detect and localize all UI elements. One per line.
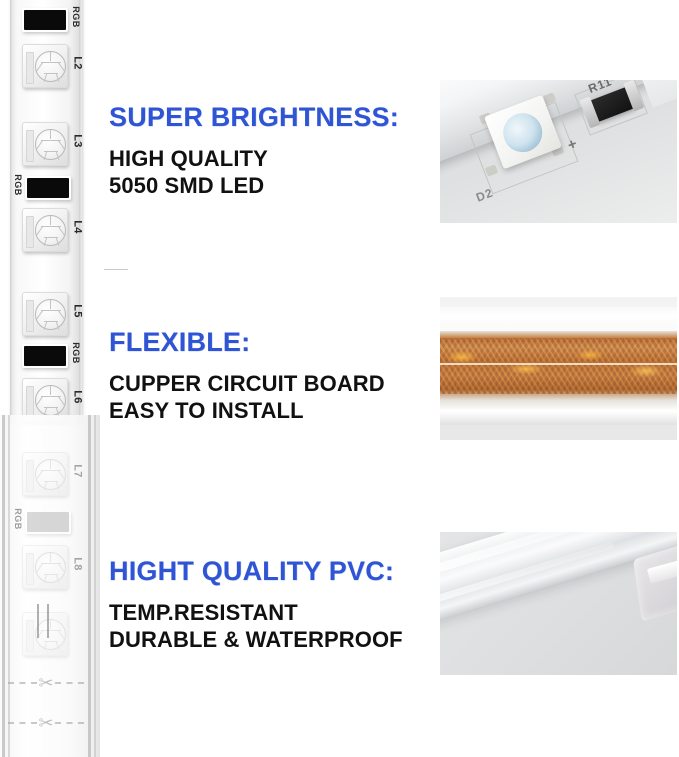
resistor-label: RGB [13, 508, 23, 530]
feature-hight-quality-pvc: HIGHT QUALITY PVC: TEMP.RESISTANT DURABL… [109, 557, 439, 654]
led-dome-icon [35, 459, 66, 490]
copper-center-line [440, 363, 677, 365]
cut-marker: ✂ [8, 672, 84, 694]
led-dome-icon [35, 619, 66, 650]
feature-flexible: FLEXIBLE: CUPPER CIRCUIT BOARD EASY TO I… [109, 328, 439, 425]
feature-heading: SUPER BRIGHTNESS: [109, 103, 439, 133]
resistor-block: RGB [25, 176, 71, 200]
resistor-block: RGB [22, 8, 68, 32]
feature-body-line: HIGH QUALITY [109, 145, 439, 173]
led-label: L4 [71, 220, 83, 233]
led-chip-l5: L5 [22, 292, 68, 336]
pvc-highlight [440, 532, 622, 584]
feature-body-line: TEMP.RESISTANT [109, 599, 439, 627]
feature-body: TEMP.RESISTANT DURABLE & WATERPROOF [109, 599, 439, 654]
led-label: L6 [71, 390, 83, 403]
resistor-label: RGB [13, 174, 23, 196]
led-dome-icon [35, 129, 66, 160]
led-label: L7 [71, 464, 83, 477]
feature-heading: FLEXIBLE: [109, 328, 439, 358]
pcb-left-edge [10, 0, 13, 424]
led-label: L8 [71, 557, 83, 570]
solder-trace [37, 604, 39, 638]
led-chip-end [22, 612, 68, 656]
resistor-label: RGB [70, 342, 80, 364]
led-chip-l4: L4 [22, 208, 68, 252]
section-divider [104, 269, 128, 270]
led-dome-icon [35, 385, 66, 416]
led-dome-icon [35, 552, 66, 583]
resistor-block: RGB [22, 344, 68, 368]
feature-body-line: 5050 SMD LED [109, 172, 439, 200]
led-label: L2 [71, 56, 83, 69]
resistor-label: RGB [70, 6, 80, 28]
led-chip-l2: L2 [22, 44, 68, 88]
led-label: L5 [71, 304, 83, 317]
led-chip-l8: L8 [22, 545, 68, 589]
led-chip-l3: L3 [22, 122, 68, 166]
copper-highlight [440, 343, 677, 389]
feature-body-line: CUPPER CIRCUIT BOARD [109, 370, 439, 398]
pvc-highlight-lower [440, 541, 615, 609]
feature-body: CUPPER CIRCUIT BOARD EASY TO INSTALL [109, 370, 439, 425]
led-label: L3 [71, 134, 83, 147]
scissors-icon: ✂ [38, 674, 53, 692]
resistor-block: RGB [25, 510, 71, 534]
copper-circuit-board-photo [440, 297, 677, 440]
tube-gloss [440, 297, 677, 331]
feature-heading: HIGHT QUALITY PVC: [109, 557, 439, 587]
led-dome-icon [35, 215, 66, 246]
feature-body-line: EASY TO INSTALL [109, 397, 439, 425]
led-dome-icon [35, 299, 66, 330]
led-chip-l7: L7 [22, 452, 68, 496]
solder-trace [47, 604, 49, 638]
feature-super-brightness: SUPER BRIGHTNESS: HIGH QUALITY 5050 SMD … [109, 103, 439, 200]
feature-body: HIGH QUALITY 5050 SMD LED [109, 145, 439, 200]
scissors-icon: ✂ [38, 714, 53, 732]
cut-marker: ✂ [8, 712, 84, 734]
pvc-sleeve-photo [440, 532, 677, 675]
smd-led-closeup-photo: R11 D2 + [440, 80, 677, 223]
feature-body-line: DURABLE & WATERPROOF [109, 626, 439, 654]
led-strip-diagram: RGB L2 L3 RGB L4 L5 RGB [0, 0, 106, 757]
led-dome-icon [35, 51, 66, 82]
